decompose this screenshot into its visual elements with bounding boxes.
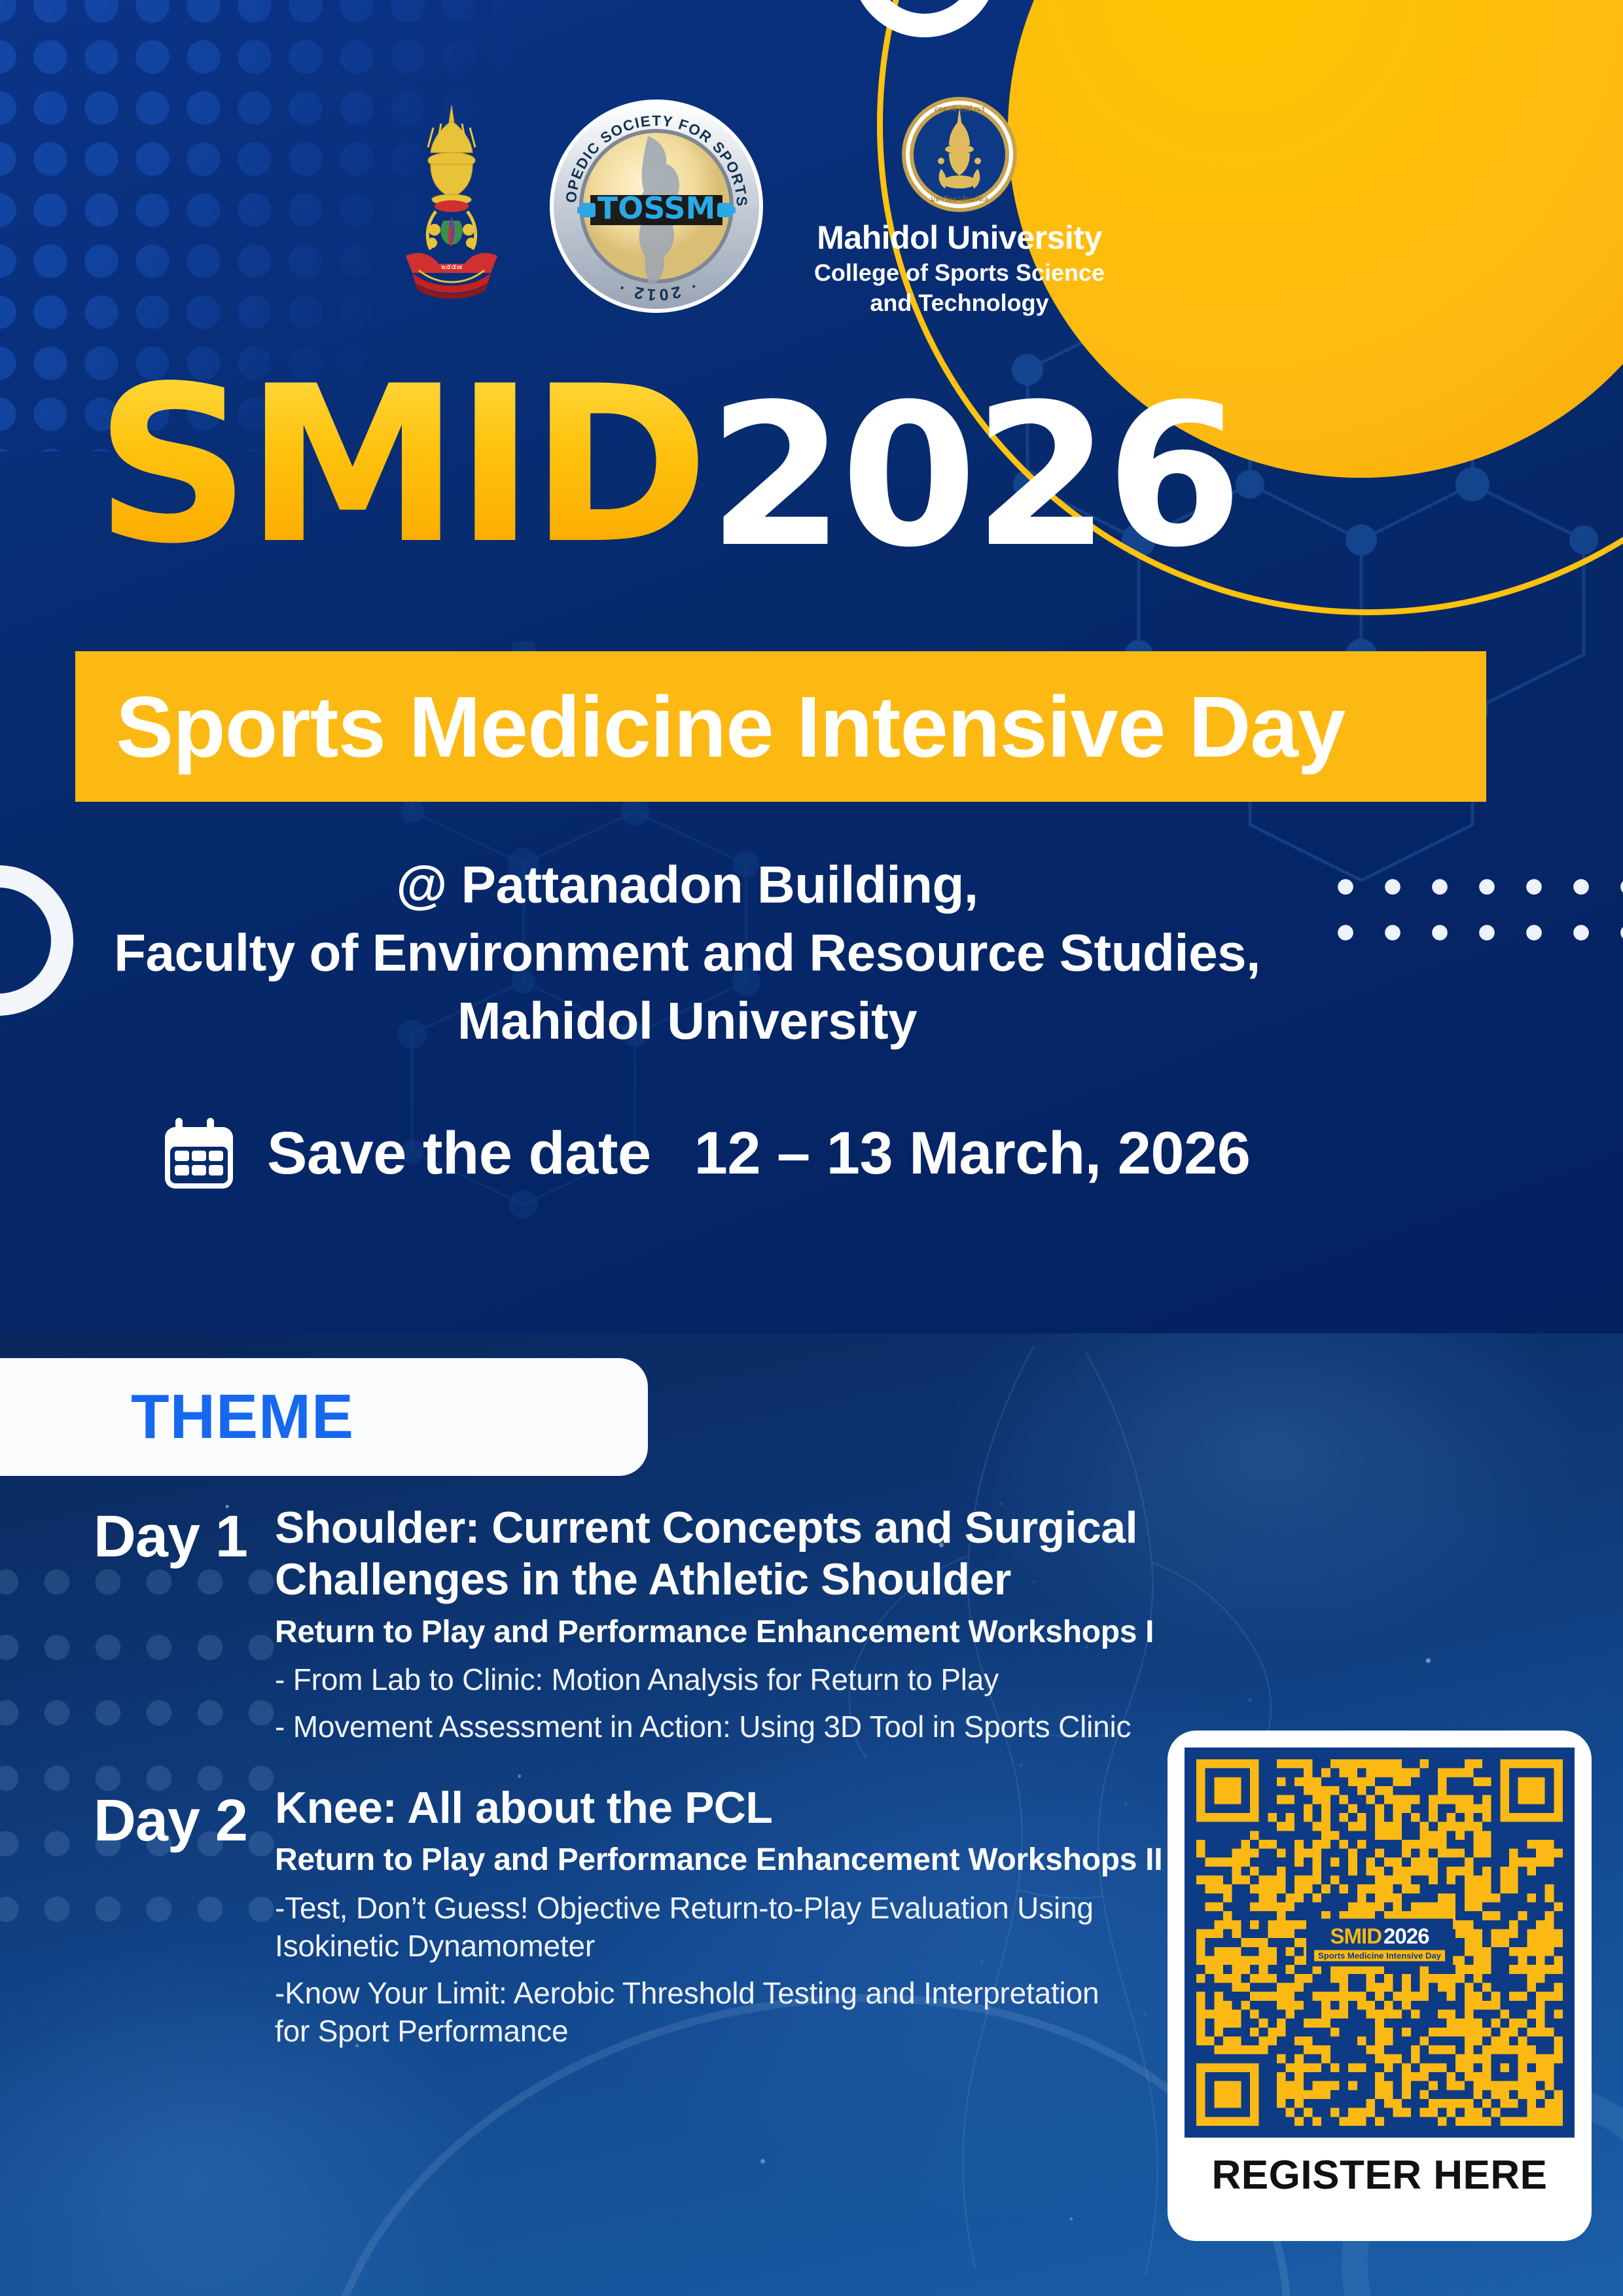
save-the-date-row: Save the date 12 – 13 March, 2026	[157, 1113, 1250, 1194]
theme-days-list: Day 1 Shoulder: Current Concepts and Sur…	[0, 1502, 1178, 2086]
day-1-subtitle: Return to Play and Performance Enhanceme…	[275, 1613, 1178, 1651]
royal-thai-crest-icon: ๒๕๕๗	[393, 101, 510, 311]
svg-text:มหาวิทยาลัยมหิดล: มหาวิทยาลัยมหิดล	[931, 196, 988, 204]
theme-heading-pill: THEME	[0, 1358, 648, 1476]
event-year: 2026	[708, 378, 1239, 575]
tossm-logo-icon: TOSSM THAI ORTHOPEDIC SOCIETY FOR SPORTS…	[548, 98, 764, 314]
qr-center-logo: SMID2026 Sports Medicine Intensive Day	[1306, 1919, 1453, 1967]
day-2-item-4: for Sport Performance	[275, 2013, 1178, 2049]
day-1-body: Shoulder: Current Concepts and Surgical …	[275, 1502, 1178, 1746]
event-subtitle: Sports Medicine Intensive Day	[116, 677, 1345, 776]
qr-code-container[interactable]: SMID2026 Sports Medicine Intensive Day	[1185, 1748, 1575, 2138]
smid-wordmark: SMID	[95, 367, 704, 565]
event-dates: 12 – 13 March, 2026	[694, 1119, 1251, 1188]
day-2-row: Day 2 Knee: All about the PCL Return to …	[0, 1782, 1178, 2050]
venue-line-3: Mahidol University	[0, 987, 1374, 1055]
day-2-item-3: -Know Your Limit: Aerobic Threshold Test…	[275, 1975, 1178, 2011]
day-1-item-2: - Movement Assessment in Action: Using 3…	[275, 1708, 1178, 1745]
day-2-label: Day 2	[0, 1782, 275, 1855]
poster-root: ๒๕๕๗	[0, 0, 1623, 2296]
day-2-title: Knee: All about the PCL	[275, 1782, 1178, 1834]
day-2-body: Knee: All about the PCL Return to Play a…	[275, 1782, 1178, 2050]
day-2-item-1: -Test, Don’t Guess! Objective Return-to-…	[275, 1890, 1178, 1926]
logo-row: ๒๕๕๗	[393, 98, 1191, 314]
register-qr-card[interactable]: SMID2026 Sports Medicine Intensive Day R…	[1168, 1731, 1592, 2241]
mahidol-university-name: Mahidol University	[817, 219, 1102, 257]
day-1-row: Day 1 Shoulder: Current Concepts and Sur…	[0, 1502, 1178, 1746]
mahidol-college-line1: College of Sports Science	[814, 259, 1105, 287]
svg-text:๒๕๕๗: ๒๕๕๗	[441, 263, 462, 271]
svg-text:TOSSM: TOSSM	[597, 190, 715, 226]
qr-logo-smid-text: SMID	[1330, 1924, 1382, 1949]
qr-logo-year-text: 2026	[1383, 1924, 1429, 1949]
theme-heading-label: THEME	[131, 1381, 354, 1453]
venue-block: @ Pattanadon Building, Faculty of Enviro…	[0, 851, 1374, 1055]
mahidol-seal-icon: อตฺตานํ อุปมํ กเร มหาวิทยาลัยมหิดล	[901, 96, 1018, 213]
qr-logo-subtitle: Sports Medicine Intensive Day	[1314, 1950, 1445, 1962]
mahidol-college-line2: and Technology	[870, 289, 1048, 317]
event-subtitle-banner: Sports Medicine Intensive Day	[75, 651, 1486, 802]
mahidol-logo-block: อตฺตานํ อุปมํ กเร มหาวิทยาลัยมหิดล Mahid…	[802, 96, 1116, 317]
venue-line-2: Faculty of Environment and Resource Stud…	[0, 919, 1374, 987]
save-the-date-label: Save the date	[267, 1119, 651, 1188]
register-here-label: REGISTER HERE	[1212, 2152, 1548, 2198]
day-1-label: Day 1	[0, 1502, 275, 1571]
top-hero-section: ๒๕๕๗	[0, 0, 1623, 1333]
calendar-icon	[157, 1113, 241, 1194]
venue-line-1: @ Pattanadon Building,	[0, 851, 1374, 919]
qr-center-logo-top: SMID2026	[1330, 1924, 1429, 1949]
day-1-item-1: - From Lab to Clinic: Motion Analysis fo…	[275, 1661, 1178, 1698]
day-2-item-2: Isokinetic Dynamometer	[275, 1928, 1178, 1964]
svg-text:อตฺตานํ อุปมํ กเร: อตฺตานํ อุปมํ กเร	[934, 105, 985, 113]
day-1-title: Shoulder: Current Concepts and Surgical …	[275, 1502, 1178, 1605]
day-2-subtitle: Return to Play and Performance Enhanceme…	[275, 1841, 1178, 1879]
event-headline: SMID 2026	[95, 367, 1239, 575]
